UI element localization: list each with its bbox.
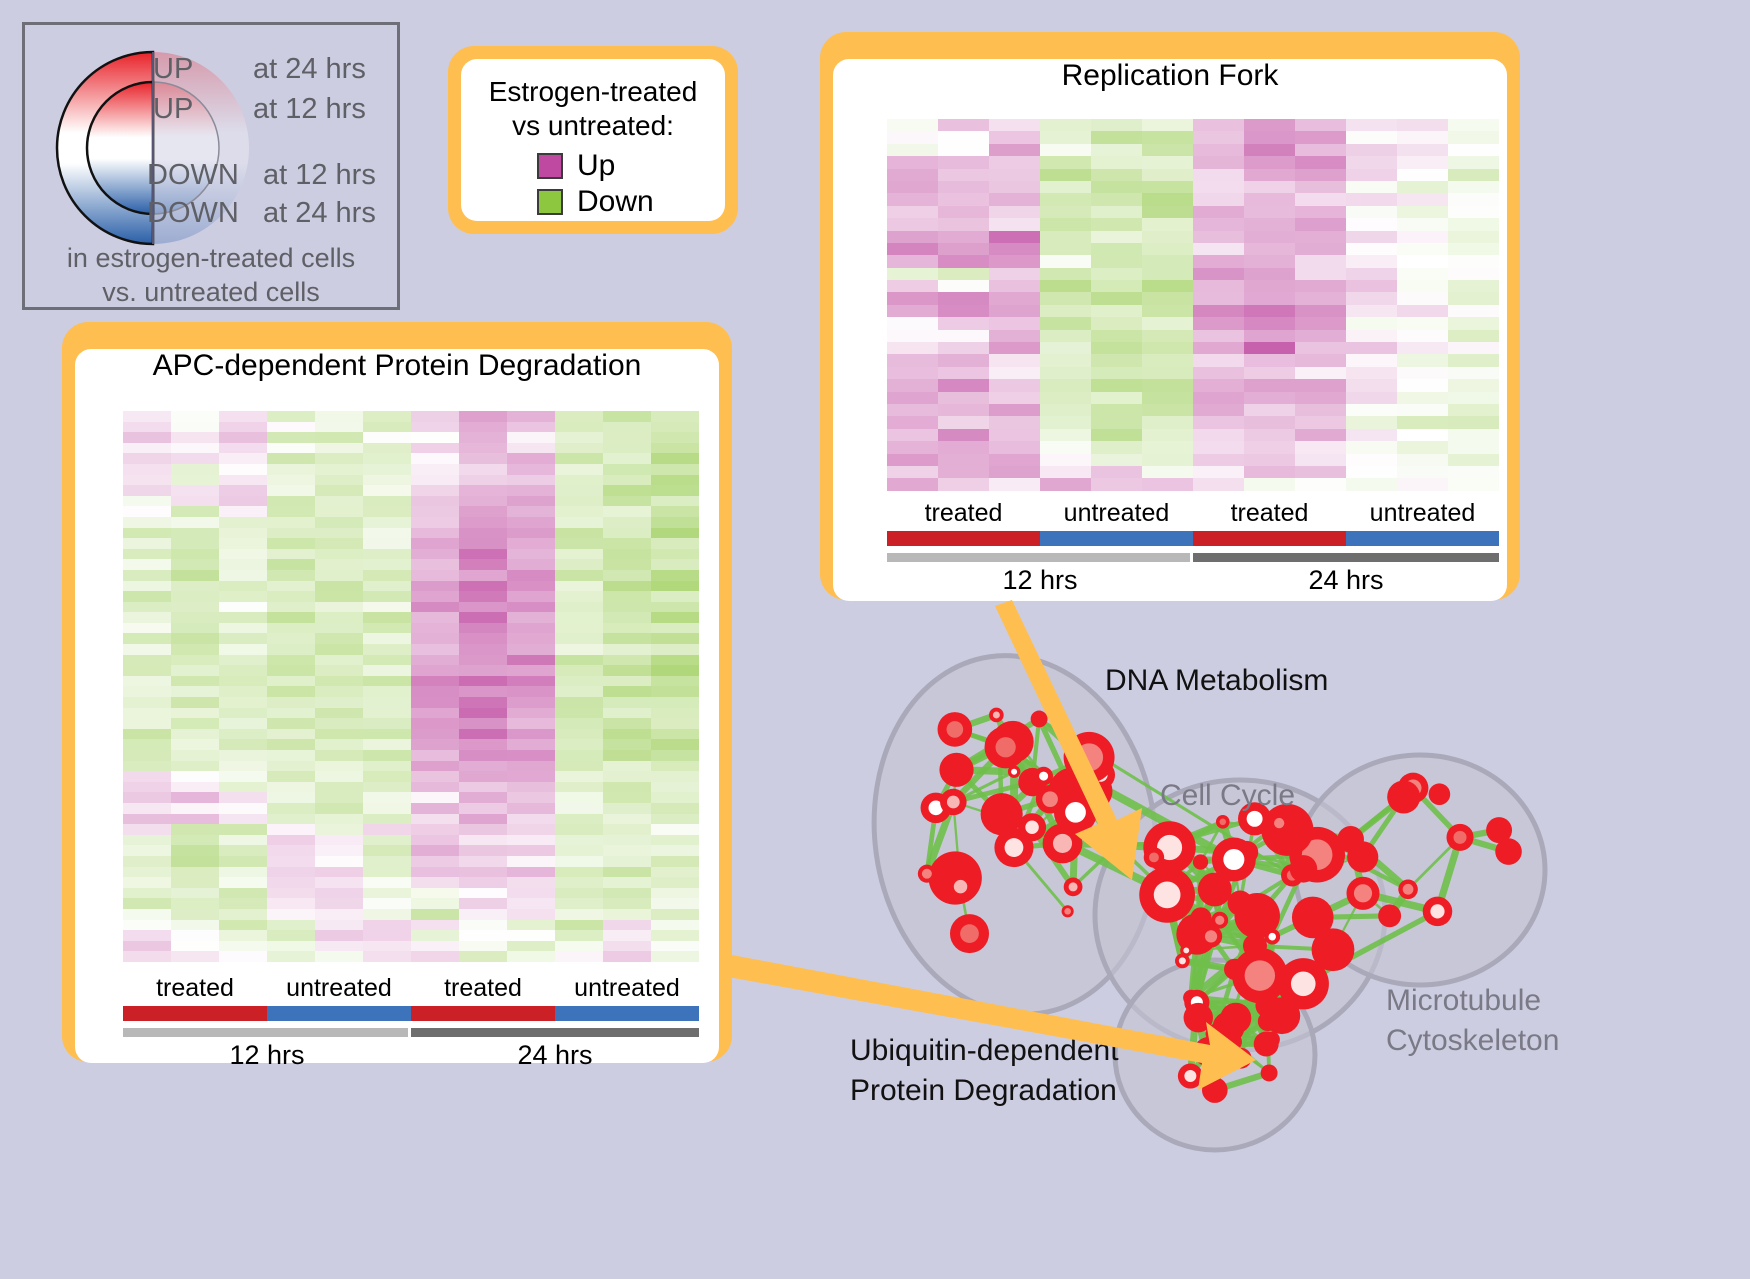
heatmap-cell xyxy=(651,718,699,729)
heatmap-cell xyxy=(363,718,411,729)
heatmap-cell xyxy=(411,951,459,962)
heatmap-cell xyxy=(555,845,603,856)
heatmap-cell xyxy=(1397,193,1448,205)
heatmap-cell xyxy=(363,528,411,539)
heatmap-cell xyxy=(123,496,171,507)
heatmap-cell xyxy=(651,623,699,634)
heatmap-cell xyxy=(219,549,267,560)
timepoint-label: 24 hrs xyxy=(411,1040,699,1071)
network-node[interactable] xyxy=(1387,780,1420,813)
heatmap-cell xyxy=(315,570,363,581)
heatmap-cell xyxy=(219,665,267,676)
heatmap-cell xyxy=(555,761,603,772)
heatmap-cell xyxy=(1244,131,1295,143)
heatmap-cell xyxy=(123,612,171,623)
heatmap-cell xyxy=(1295,292,1346,304)
heatmap-cell xyxy=(219,792,267,803)
heatmap-cell xyxy=(315,475,363,486)
treatment-bar-segment xyxy=(887,531,1040,546)
treatment-bar-segment xyxy=(123,1006,267,1021)
heatmap-cell xyxy=(171,814,219,825)
panel-title-apc-degradation: APC-dependent Protein Degradation xyxy=(75,349,719,383)
heatmap-row xyxy=(123,655,699,666)
heatmap-cell xyxy=(1193,330,1244,342)
heatmap-cell xyxy=(315,782,363,793)
heatmap-cell xyxy=(363,920,411,931)
heatmap-cell xyxy=(1448,280,1499,292)
heatmap-cell xyxy=(363,814,411,825)
network-node[interactable] xyxy=(1486,817,1512,843)
heatmap-cell xyxy=(989,379,1040,391)
heatmap-row xyxy=(887,317,1499,329)
heatmap-cell xyxy=(555,655,603,666)
heatmap-cell xyxy=(459,623,507,634)
heatmap-cell xyxy=(411,475,459,486)
heatmap-cell xyxy=(459,888,507,899)
heatmap-cell xyxy=(555,549,603,560)
heatmap-cell xyxy=(219,898,267,909)
heatmap-cell xyxy=(651,633,699,644)
updown-key-legend: Estrogen-treated vs untreated: Up Down xyxy=(448,46,738,234)
network-node[interactable] xyxy=(1429,783,1451,805)
heatmap-cell xyxy=(315,612,363,623)
heatmap-row xyxy=(887,255,1499,267)
network-node[interactable] xyxy=(1258,1012,1277,1031)
heatmap-cell xyxy=(171,718,219,729)
heatmap-cell xyxy=(315,443,363,454)
heatmap-cell xyxy=(507,411,555,422)
heatmap-cell xyxy=(603,612,651,623)
network-node-core xyxy=(1268,933,1276,941)
heatmap-cell xyxy=(651,443,699,454)
heatmap-cell xyxy=(507,708,555,719)
heatmap-cell xyxy=(123,856,171,867)
heatmap-cell xyxy=(1295,354,1346,366)
heatmap-cell xyxy=(267,867,315,878)
heatmap-row xyxy=(123,888,699,899)
heatmap-cell xyxy=(507,792,555,803)
heatmap-cell xyxy=(887,441,938,453)
heatmap-cell xyxy=(651,676,699,687)
heatmap-cell xyxy=(555,718,603,729)
heatmap-cell xyxy=(1295,429,1346,441)
heatmap-cell xyxy=(1091,454,1142,466)
heatmap-cell xyxy=(1346,392,1397,404)
heatmap-cell xyxy=(411,496,459,507)
network-node-core xyxy=(1291,971,1316,996)
heatmap-cell xyxy=(123,835,171,846)
heatmap-cell xyxy=(989,466,1040,478)
key-legend-item-down: Down xyxy=(537,185,725,219)
heatmap-cell xyxy=(363,729,411,740)
network-node[interactable] xyxy=(1202,1077,1228,1103)
heatmap-cell xyxy=(363,506,411,517)
heatmap-row xyxy=(887,156,1499,168)
heatmap-row xyxy=(123,453,699,464)
heatmap-cell xyxy=(1040,330,1091,342)
network-node[interactable] xyxy=(1290,855,1317,882)
heatmap-cell xyxy=(555,422,603,433)
heatmap-cell xyxy=(411,856,459,867)
heatmap-cell xyxy=(603,930,651,941)
heatmap-cell xyxy=(267,665,315,676)
heatmap-row xyxy=(123,782,699,793)
heatmap-cell xyxy=(171,464,219,475)
heatmap-row xyxy=(887,193,1499,205)
heatmap-cell xyxy=(315,920,363,931)
heatmap-cell xyxy=(1346,429,1397,441)
heatmap-cell xyxy=(1244,404,1295,416)
heatmap-cell xyxy=(123,951,171,962)
heatmap-cell xyxy=(555,708,603,719)
heatmap-cell xyxy=(315,814,363,825)
heatmap-cell xyxy=(171,930,219,941)
heatmap-cell xyxy=(459,485,507,496)
heatmap-cell xyxy=(555,814,603,825)
heatmap-cell xyxy=(411,888,459,899)
heatmap-cell xyxy=(459,633,507,644)
heatmap-cell xyxy=(171,475,219,486)
network-node[interactable] xyxy=(939,753,973,787)
ring-label-word-0: UP xyxy=(153,53,193,86)
heatmap-row xyxy=(123,824,699,835)
heatmap-cell xyxy=(363,930,411,941)
heatmap-cell xyxy=(411,814,459,825)
heatmap-cell xyxy=(938,392,989,404)
heatmap-cell xyxy=(123,909,171,920)
heatmap-cell xyxy=(1448,392,1499,404)
heatmap-cell xyxy=(651,909,699,920)
network-node-core xyxy=(1025,821,1038,834)
heatmap-cell xyxy=(411,623,459,634)
heatmap-cell xyxy=(315,708,363,719)
heatmap-cell xyxy=(1142,206,1193,218)
network-node[interactable] xyxy=(1193,854,1208,869)
heatmap-cell xyxy=(1142,454,1193,466)
heatmap-cell xyxy=(603,422,651,433)
heatmap-cell xyxy=(459,538,507,549)
heatmap-cell xyxy=(1091,243,1142,255)
heatmap-cell xyxy=(603,877,651,888)
heatmap-cell xyxy=(555,920,603,931)
heatmap-cell xyxy=(603,623,651,634)
heatmap-cell xyxy=(219,633,267,644)
heatmap-cell xyxy=(1040,379,1091,391)
heatmap-cell xyxy=(267,475,315,486)
heatmap-cell xyxy=(555,771,603,782)
heatmap-cell xyxy=(123,633,171,644)
heatmap-cell xyxy=(1040,280,1091,292)
heatmap-cell xyxy=(363,496,411,507)
heatmap-cell xyxy=(267,528,315,539)
heatmap-row xyxy=(123,686,699,697)
panel-replication-fork: Replication Fork treateduntreatedtreated… xyxy=(820,32,1520,600)
network-node[interactable] xyxy=(1031,711,1048,728)
heatmap-cell xyxy=(219,835,267,846)
heatmap-cell xyxy=(938,280,989,292)
sample-names-row: treateduntreatedtreateduntreated xyxy=(123,974,699,1003)
heatmap-cell xyxy=(123,792,171,803)
heatmap-cell xyxy=(507,644,555,655)
heatmap-cell xyxy=(267,655,315,666)
heatmap-cell xyxy=(459,824,507,835)
network-node[interactable] xyxy=(1261,1065,1278,1082)
heatmap-cell xyxy=(603,496,651,507)
heatmap-cell xyxy=(603,475,651,486)
heatmap-cell xyxy=(267,623,315,634)
heatmap-cell xyxy=(1397,206,1448,218)
heatmap-cell xyxy=(651,750,699,761)
heatmap-cell xyxy=(219,750,267,761)
heatmap-cell xyxy=(1091,305,1142,317)
heatmap-cell xyxy=(651,475,699,486)
heatmap-cell xyxy=(219,538,267,549)
heatmap-cell xyxy=(171,528,219,539)
heatmap-cell xyxy=(1448,218,1499,230)
heatmap-cell xyxy=(411,761,459,772)
heatmap-cell xyxy=(989,255,1040,267)
network-node-core xyxy=(1245,960,1275,990)
heatmap-cell xyxy=(411,443,459,454)
heatmap-cell xyxy=(1091,156,1142,168)
heatmap-cell xyxy=(507,591,555,602)
heatmap-cell xyxy=(171,676,219,687)
heatmap-cell xyxy=(1142,367,1193,379)
network-node-core xyxy=(1274,818,1284,828)
heatmap-cell xyxy=(267,549,315,560)
heatmap-cell xyxy=(123,655,171,666)
heatmap-cell xyxy=(1091,193,1142,205)
heatmap-row xyxy=(123,739,699,750)
heatmap-cell xyxy=(315,761,363,772)
heatmap-cell xyxy=(267,877,315,888)
heatmap-cell xyxy=(1448,330,1499,342)
heatmap-cell xyxy=(267,644,315,655)
heatmap-row xyxy=(123,432,699,443)
heatmap-cell xyxy=(1193,429,1244,441)
heatmap-cell xyxy=(938,292,989,304)
heatmap-row xyxy=(887,131,1499,143)
network-node-core xyxy=(1403,884,1414,895)
heatmap-cell xyxy=(555,792,603,803)
heatmap-cell xyxy=(267,432,315,443)
heatmap-cell xyxy=(1244,231,1295,243)
heatmap-cell xyxy=(603,453,651,464)
network-node-core xyxy=(1223,849,1244,870)
heatmap-cell xyxy=(219,422,267,433)
heatmap-cell xyxy=(219,771,267,782)
network-node-core xyxy=(1215,916,1224,925)
heatmap-cell xyxy=(459,432,507,443)
heatmap-cell xyxy=(267,888,315,899)
heatmap-cell xyxy=(603,750,651,761)
heatmap-cell xyxy=(887,206,938,218)
heatmap-cell xyxy=(363,835,411,846)
ring-legend-box: UP at 24 hrs UP at 12 hrs DOWN at 12 hrs… xyxy=(22,22,400,310)
heatmap-row xyxy=(123,464,699,475)
sample-name-label: treated xyxy=(123,974,267,1003)
heatmap-cell xyxy=(315,453,363,464)
heatmap-cell xyxy=(219,602,267,613)
heatmap-cell xyxy=(1040,429,1091,441)
heatmap-cell xyxy=(989,354,1040,366)
heatmap-cell xyxy=(555,581,603,592)
heatmap-cell xyxy=(1448,231,1499,243)
heatmap-cell xyxy=(1193,466,1244,478)
heatmap-cell xyxy=(938,193,989,205)
heatmap-cell xyxy=(603,570,651,581)
heatmap-cell xyxy=(123,941,171,952)
heatmap-cell xyxy=(938,404,989,416)
heatmap-cell xyxy=(219,888,267,899)
network-node[interactable] xyxy=(1198,872,1232,906)
network-node[interactable] xyxy=(1292,897,1334,939)
heatmap-cell xyxy=(1397,131,1448,143)
heatmap-cell xyxy=(1448,181,1499,193)
heatmap-cell xyxy=(507,475,555,486)
heatmap-cell xyxy=(507,422,555,433)
network-node[interactable] xyxy=(1254,1032,1279,1057)
heatmap-row xyxy=(887,354,1499,366)
heatmap-cell xyxy=(603,485,651,496)
heatmap-cell xyxy=(363,739,411,750)
heatmap-cell xyxy=(123,559,171,570)
heatmap-cell xyxy=(171,792,219,803)
heatmap-cell xyxy=(219,718,267,729)
heatmap-cell xyxy=(1448,466,1499,478)
cluster-label: DNA Metabolism xyxy=(1105,664,1328,697)
key-legend-title-line2: vs untreated: xyxy=(461,109,725,143)
heatmap-cell xyxy=(1244,305,1295,317)
heatmap-cell xyxy=(938,231,989,243)
heatmap-cell xyxy=(219,464,267,475)
heatmap-cell xyxy=(315,422,363,433)
heatmap-cell xyxy=(1142,478,1193,490)
network-node[interactable] xyxy=(1184,1003,1213,1032)
heatmap-row xyxy=(887,218,1499,230)
heatmap-cell xyxy=(603,898,651,909)
heatmap-cell xyxy=(651,803,699,814)
heatmap-cell xyxy=(989,131,1040,143)
heatmap-cell xyxy=(1193,156,1244,168)
heatmap-cell xyxy=(507,877,555,888)
network-node-core xyxy=(993,711,1000,718)
heatmap-cell xyxy=(507,941,555,952)
heatmap-cell xyxy=(267,612,315,623)
heatmap-cell xyxy=(123,845,171,856)
heatmap-cell xyxy=(989,156,1040,168)
heatmap-cell xyxy=(1397,429,1448,441)
network-node[interactable] xyxy=(1243,934,1267,958)
heatmap-cell xyxy=(459,676,507,687)
heatmap-cell xyxy=(459,475,507,486)
heatmap-cell xyxy=(123,549,171,560)
heatmap-cell xyxy=(651,517,699,528)
network-node-core xyxy=(1219,819,1226,826)
heatmap-cell xyxy=(1448,404,1499,416)
heatmap-cell xyxy=(363,623,411,634)
heatmap-cell xyxy=(603,581,651,592)
heatmap-cell xyxy=(651,506,699,517)
heatmap-cell xyxy=(603,782,651,793)
heatmap-cell xyxy=(555,782,603,793)
heatmap-cell xyxy=(1091,280,1142,292)
heatmap-cell xyxy=(603,644,651,655)
heatmap-cell xyxy=(507,485,555,496)
network-node[interactable] xyxy=(1220,1003,1251,1034)
cluster-label: Protein Degradation xyxy=(850,1074,1117,1107)
heatmap-cell xyxy=(219,443,267,454)
heatmap-cell xyxy=(1448,206,1499,218)
heatmap-cell xyxy=(411,729,459,740)
heatmap-cell xyxy=(267,856,315,867)
heatmap-cell xyxy=(603,718,651,729)
network-node-core xyxy=(1112,839,1124,851)
network-node-core xyxy=(1042,791,1058,807)
heatmap-cell xyxy=(315,676,363,687)
heatmap-cell xyxy=(1142,354,1193,366)
heatmap-cell xyxy=(1448,156,1499,168)
network-node[interactable] xyxy=(1347,841,1378,872)
heatmap-cell xyxy=(123,591,171,602)
heatmap-cell xyxy=(123,538,171,549)
heatmap-cell xyxy=(1346,292,1397,304)
heatmap-row xyxy=(123,591,699,602)
ring-legend-footer-line1: in estrogen-treated cells xyxy=(25,243,397,274)
heatmap-cell xyxy=(938,330,989,342)
heatmap-cell xyxy=(267,930,315,941)
network-node-core xyxy=(1183,948,1189,954)
heatmap-cell xyxy=(507,528,555,539)
heatmap-cell xyxy=(267,676,315,687)
heatmap-cell xyxy=(363,655,411,666)
heatmap-cell xyxy=(315,845,363,856)
heatmap-row xyxy=(887,478,1499,490)
network-node[interactable] xyxy=(1378,904,1401,927)
heatmap-cell xyxy=(411,549,459,560)
heatmap-cell xyxy=(507,814,555,825)
heatmap-cell xyxy=(1397,292,1448,304)
heatmap-cell xyxy=(651,411,699,422)
heatmap-cell xyxy=(123,464,171,475)
heatmap-cell xyxy=(887,429,938,441)
heatmap-cell xyxy=(1397,156,1448,168)
heatmap-cell xyxy=(1040,441,1091,453)
heatmap-cell xyxy=(267,411,315,422)
heatmap-cell xyxy=(315,898,363,909)
heatmap-cell xyxy=(938,317,989,329)
heatmap-cell xyxy=(123,771,171,782)
heatmap-cell xyxy=(1295,466,1346,478)
heatmap-cell xyxy=(1193,231,1244,243)
heatmap-cell xyxy=(989,218,1040,230)
heatmap-cell xyxy=(1091,292,1142,304)
heatmap-cell xyxy=(123,898,171,909)
heatmap-cell xyxy=(603,432,651,443)
heatmap-cell xyxy=(315,528,363,539)
heatmap-cell xyxy=(603,591,651,602)
heatmap-cell xyxy=(1244,119,1295,131)
heatmap-cell xyxy=(267,909,315,920)
heatmap-cell xyxy=(1244,156,1295,168)
heatmap-cell xyxy=(507,845,555,856)
heatmap-cell xyxy=(507,517,555,528)
heatmap-cell xyxy=(1244,354,1295,366)
network-node[interactable] xyxy=(1256,991,1279,1014)
network-node[interactable] xyxy=(1190,907,1211,928)
heatmap-cell xyxy=(219,729,267,740)
heatmap-cell xyxy=(171,655,219,666)
